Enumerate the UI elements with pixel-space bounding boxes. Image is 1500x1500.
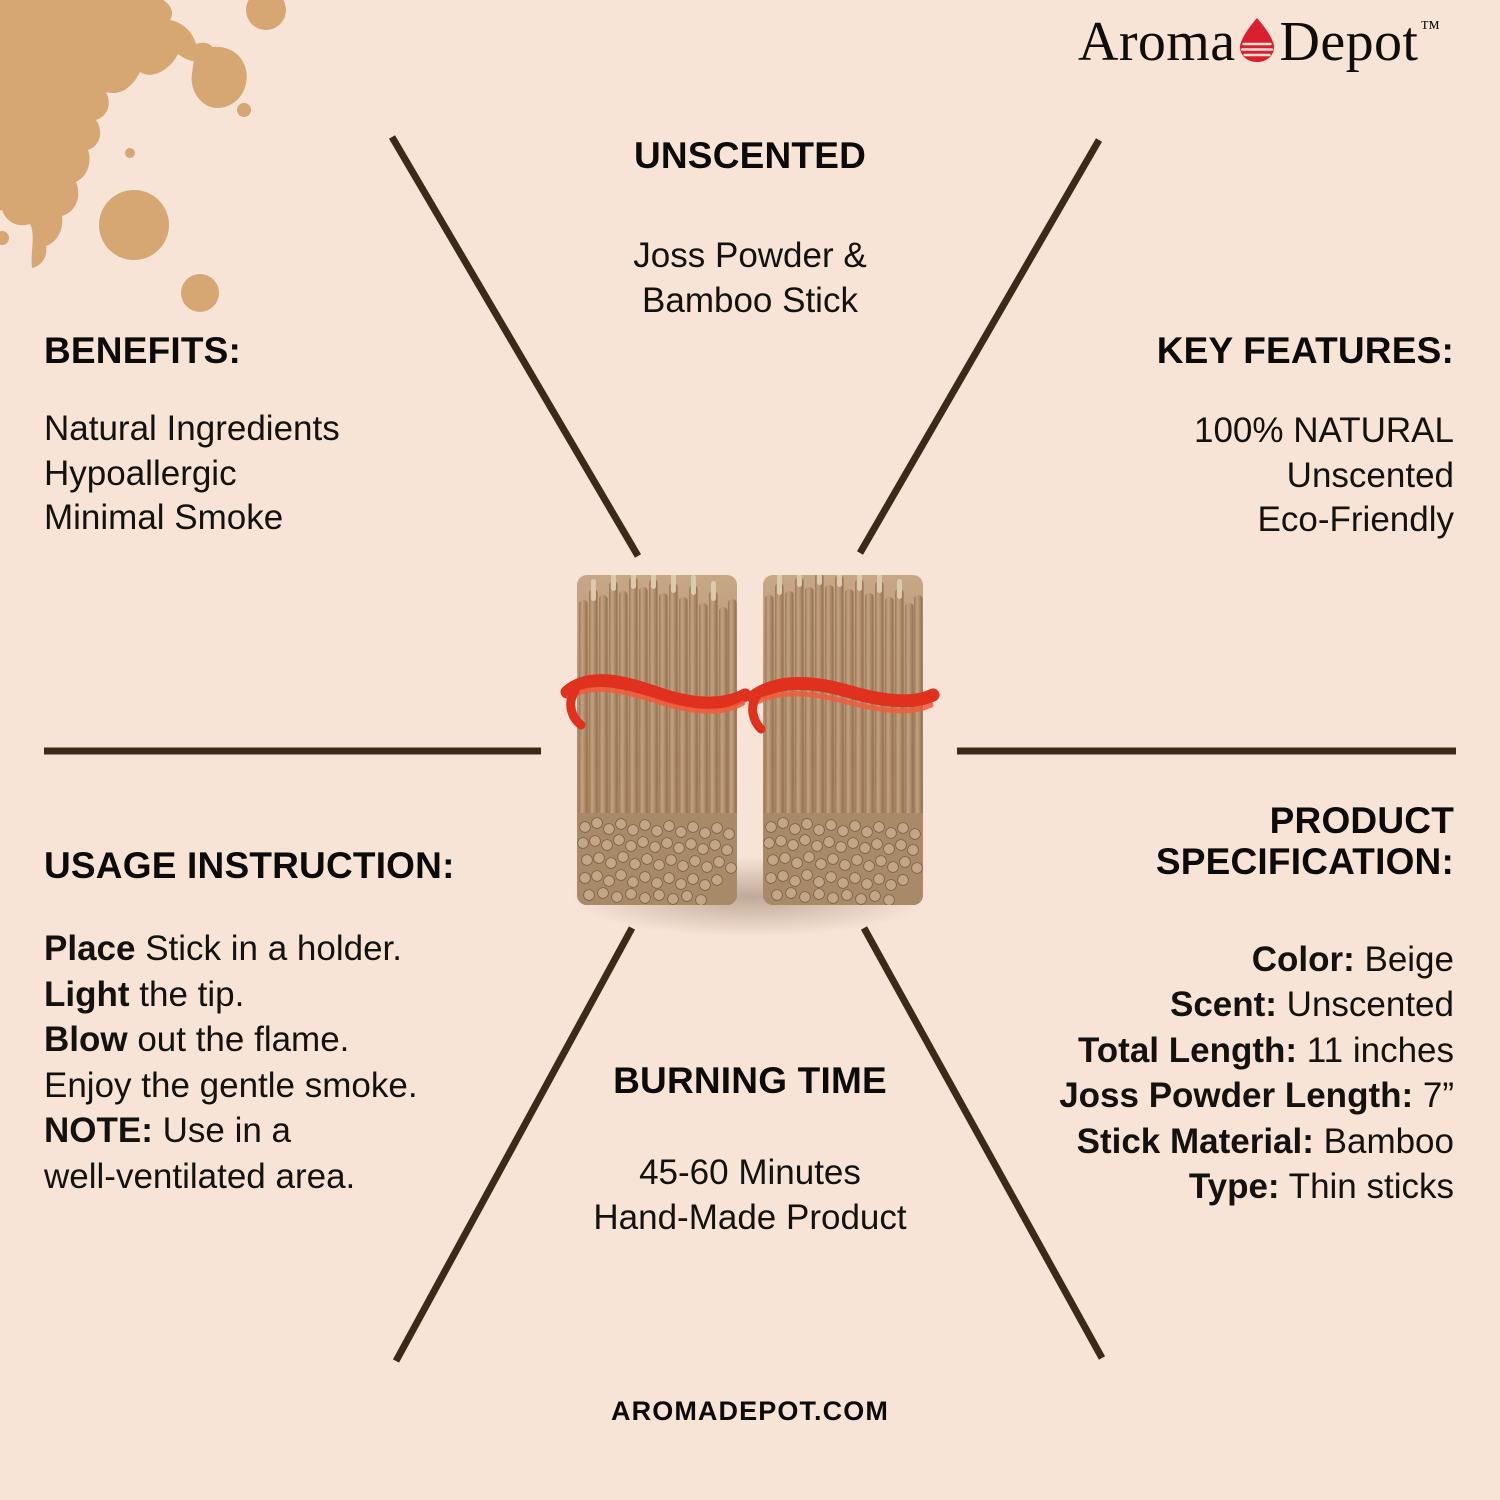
specification-value: Beige xyxy=(1355,940,1454,979)
usage-step: Place Stick in a holder. xyxy=(44,926,554,972)
trademark-symbol: ™ xyxy=(1420,18,1440,38)
usage-step-text: Stick in a holder. xyxy=(135,929,402,968)
usage-step: NOTE: Use in a xyxy=(44,1108,554,1154)
usage-steps: Place Stick in a holder. Light the tip. … xyxy=(44,926,554,1199)
specification-label: Stick Material: xyxy=(1077,1122,1314,1161)
specification-label: Type: xyxy=(1189,1167,1280,1206)
usage-step-text: out the flame. xyxy=(128,1020,350,1059)
specification-value: Unscented xyxy=(1277,985,1454,1024)
key-features-item: 100% NATURAL xyxy=(984,409,1454,453)
benefits-item: Hypoallergic xyxy=(44,452,484,496)
unscented-body: Joss Powder & Bamboo Stick xyxy=(500,234,1000,323)
specification-heading-line2: SPECIFICATION: xyxy=(984,841,1454,882)
specification-rows: Color: Beige Scent: Unscented Total Leng… xyxy=(984,937,1454,1210)
section-benefits: BENEFITS: Natural Ingredients Hypoallerg… xyxy=(44,330,484,541)
usage-step-text: Use in a xyxy=(153,1111,291,1150)
brand-logo: Aroma Depot ™ xyxy=(1078,14,1440,70)
brand-name-part2: Depot xyxy=(1280,14,1419,70)
infographic-canvas: Aroma Depot ™ xyxy=(0,0,1500,1500)
specification-row: Stick Material: Bamboo xyxy=(984,1119,1454,1165)
usage-step-lead: NOTE: xyxy=(44,1111,153,1150)
specification-label: Color: xyxy=(1252,940,1355,979)
burning-time-heading: BURNING TIME xyxy=(500,1060,1000,1101)
usage-step: well-ventilated area. xyxy=(44,1154,554,1200)
benefits-list: Natural Ingredients Hypoallergic Minimal… xyxy=(44,407,484,540)
usage-step-text: Enjoy the gentle smoke. xyxy=(44,1066,418,1105)
specification-heading-line1: PRODUCT xyxy=(984,800,1454,841)
section-key-features: KEY FEATURES: 100% NATURAL Unscented Eco… xyxy=(984,330,1454,543)
section-burning-time: BURNING TIME 45-60 Minutes Hand-Made Pro… xyxy=(500,1060,1000,1240)
usage-step-lead: Place xyxy=(44,929,135,968)
benefits-item: Natural Ingredients xyxy=(44,407,484,451)
specification-value: Bamboo xyxy=(1314,1122,1454,1161)
specification-row: Color: Beige xyxy=(984,937,1454,983)
usage-step-text: well-ventilated area. xyxy=(44,1157,355,1196)
section-usage-instruction: USAGE INSTRUCTION: Place Stick in a hold… xyxy=(44,845,554,1199)
brand-logo-text: Aroma Depot xyxy=(1078,14,1418,70)
burning-time-line: 45-60 Minutes xyxy=(500,1151,1000,1195)
specification-value: 11 inches xyxy=(1297,1031,1454,1070)
usage-step-text: the tip. xyxy=(130,975,245,1014)
usage-heading: USAGE INSTRUCTION: xyxy=(44,845,554,886)
specification-label: Joss Powder Length: xyxy=(1059,1076,1413,1115)
benefits-item: Minimal Smoke xyxy=(44,496,484,540)
unscented-line: Joss Powder & xyxy=(500,234,1000,278)
section-product-specification: PRODUCT SPECIFICATION: Color: Beige Scen… xyxy=(984,800,1454,1210)
usage-step: Blow out the flame. xyxy=(44,1017,554,1063)
usage-step-lead: Light xyxy=(44,975,130,1014)
unscented-line: Bamboo Stick xyxy=(500,279,1000,323)
specification-row: Joss Powder Length: 7” xyxy=(984,1073,1454,1119)
key-features-item: Eco-Friendly xyxy=(984,498,1454,542)
footer-website-url[interactable]: AROMADEPOT.COM xyxy=(0,1396,1500,1427)
usage-step: Light the tip. xyxy=(44,972,554,1018)
red-teardrop-icon xyxy=(1238,17,1276,73)
section-unscented: UNSCENTED Joss Powder & Bamboo Stick xyxy=(500,135,1000,323)
specification-value: 7” xyxy=(1413,1076,1454,1115)
specification-heading: PRODUCT SPECIFICATION: xyxy=(984,800,1454,883)
burning-time-body: 45-60 Minutes Hand-Made Product xyxy=(500,1151,1000,1240)
benefits-heading: BENEFITS: xyxy=(44,330,484,371)
product-photo-incense-bundles xyxy=(545,545,955,935)
usage-step-lead: Blow xyxy=(44,1020,128,1059)
ink-splatter-decoration xyxy=(0,0,330,330)
specification-label: Total Length: xyxy=(1078,1031,1297,1070)
key-features-list: 100% NATURAL Unscented Eco-Friendly xyxy=(984,409,1454,542)
specification-row: Total Length: 11 inches xyxy=(984,1028,1454,1074)
specification-row: Scent: Unscented xyxy=(984,982,1454,1028)
specification-label: Scent: xyxy=(1170,985,1277,1024)
burning-time-line: Hand-Made Product xyxy=(500,1196,1000,1240)
brand-name-part1: Aroma xyxy=(1078,14,1236,70)
specification-value: Thin sticks xyxy=(1280,1167,1454,1206)
specification-row: Type: Thin sticks xyxy=(984,1164,1454,1210)
key-features-heading: KEY FEATURES: xyxy=(984,330,1454,371)
usage-step: Enjoy the gentle smoke. xyxy=(44,1063,554,1109)
key-features-item: Unscented xyxy=(984,454,1454,498)
unscented-heading: UNSCENTED xyxy=(500,135,1000,176)
